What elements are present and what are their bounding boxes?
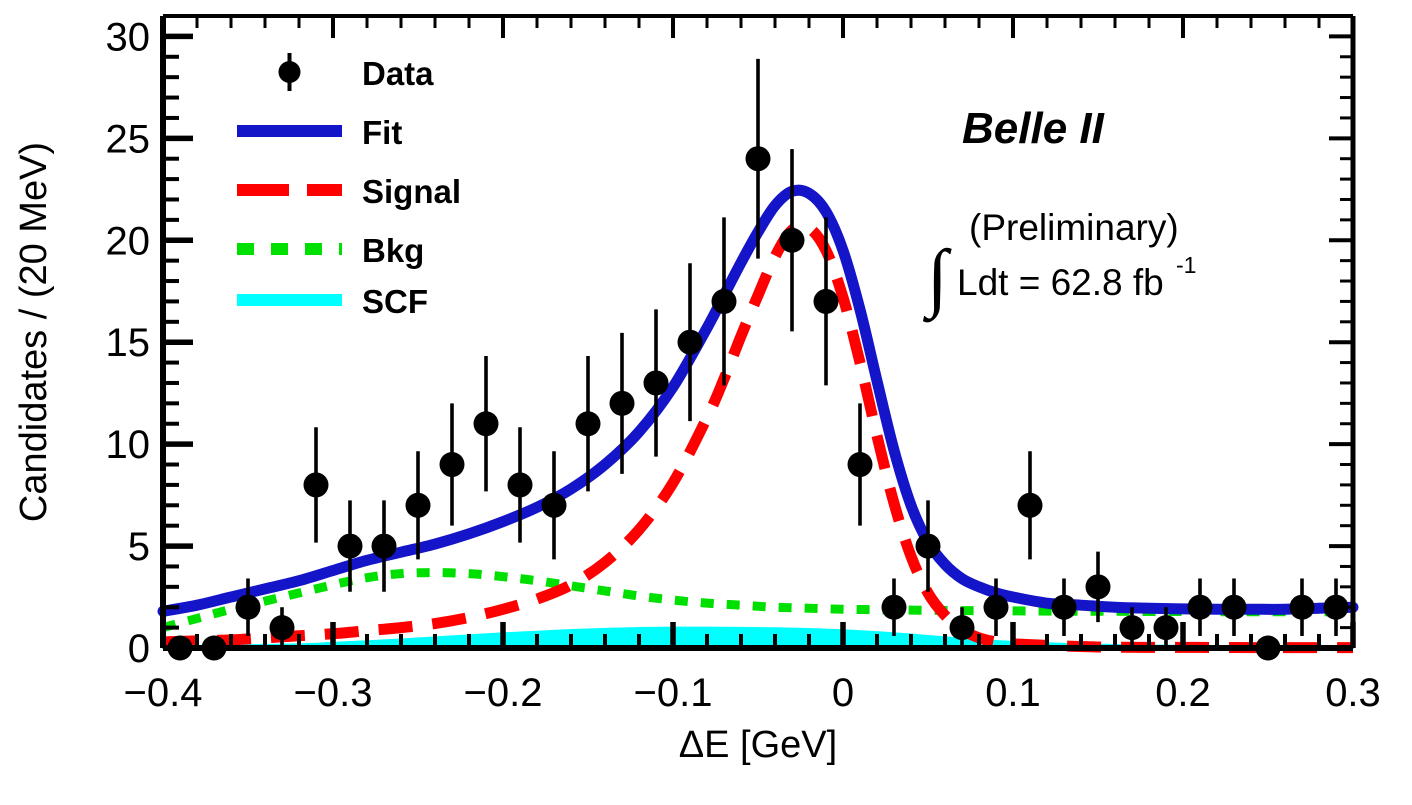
x-tick-label: −0.2	[464, 671, 543, 715]
data-point	[814, 289, 839, 314]
preliminary-label: (Preliminary)	[969, 207, 1179, 248]
data-point	[304, 472, 329, 497]
data-point	[712, 289, 737, 314]
data-point	[406, 493, 431, 518]
data-point	[1290, 595, 1315, 620]
x-tick-label: 0.1	[985, 671, 1041, 715]
data-point	[984, 595, 1009, 620]
y-tick-label: 20	[106, 219, 151, 263]
legend-label-signal: Signal	[362, 173, 461, 210]
y-tick-label: 0	[128, 627, 150, 671]
y-tick-label: 30	[106, 15, 151, 59]
legend-label-scf: SCF	[362, 283, 428, 320]
data-point	[372, 534, 397, 559]
data-point	[338, 534, 363, 559]
x-tick-label: 0.3	[1325, 671, 1381, 715]
luminosity-exponent: -1	[1176, 252, 1196, 278]
data-point	[270, 615, 295, 640]
data-point	[610, 391, 635, 416]
data-point	[1018, 493, 1043, 518]
y-tick-label: 5	[128, 525, 150, 569]
data-point	[1154, 615, 1179, 640]
figure-root: −0.4−0.3−0.2−0.100.10.20.3051015202530 Δ…	[0, 0, 1412, 805]
data-point	[916, 534, 941, 559]
data-point	[236, 595, 261, 620]
x-tick-label: −0.3	[294, 671, 373, 715]
data-point	[848, 452, 873, 477]
data-point	[746, 146, 771, 171]
data-point	[1120, 615, 1145, 640]
data-point	[1052, 595, 1077, 620]
data-point	[882, 595, 907, 620]
data-point	[678, 330, 703, 355]
legend-label-fit: Fit	[362, 114, 402, 151]
x-axis-title: ΔE [GeV]	[679, 724, 837, 766]
y-tick-label: 15	[106, 321, 151, 365]
data-point	[644, 370, 669, 395]
x-tick-label: 0.2	[1155, 671, 1211, 715]
y-axis-title: Candidates / (20 MeV)	[13, 142, 55, 522]
integral-symbol: ∫	[923, 235, 952, 323]
x-tick-label: −0.4	[124, 671, 203, 715]
data-point	[1222, 595, 1247, 620]
data-point	[1086, 574, 1111, 599]
data-point	[508, 472, 533, 497]
data-point	[950, 615, 975, 640]
physics-plot: −0.4−0.3−0.2−0.100.10.20.3051015202530 Δ…	[0, 0, 1412, 805]
x-tick-label: −0.1	[634, 671, 713, 715]
data-point	[780, 228, 805, 253]
legend-label-data: Data	[362, 55, 434, 92]
x-tick-label: 0	[832, 671, 854, 715]
data-point	[440, 452, 465, 477]
y-tick-label: 10	[106, 423, 151, 467]
y-tick-label: 25	[106, 117, 151, 161]
luminosity-label: Ldt = 62.8 fb	[957, 262, 1164, 303]
legend-label-bkg: Bkg	[362, 232, 424, 269]
data-point	[474, 411, 499, 436]
data-point	[576, 411, 601, 436]
experiment-label: Belle II	[962, 104, 1105, 153]
data-point	[542, 493, 567, 518]
data-point	[1188, 595, 1213, 620]
